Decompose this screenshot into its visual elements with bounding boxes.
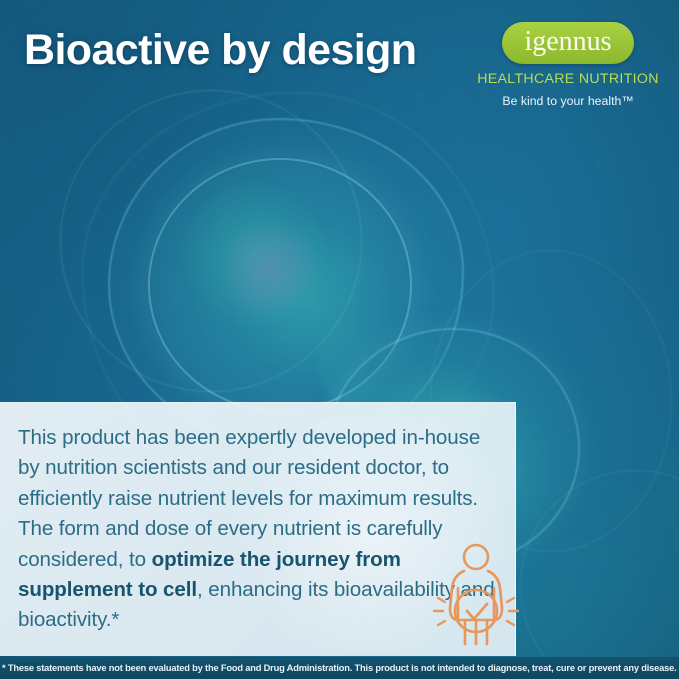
person-absorption-icon [424, 540, 528, 652]
logo-pill-shape: igennus [502, 22, 634, 64]
logo-subtitle: HEALTHCARE NUTRITION [470, 71, 666, 87]
brand-logo: igennus HEALTHCARE NUTRITION Be kind to … [470, 22, 666, 108]
logo-wordmark: igennus [524, 28, 611, 56]
disclaimer-bar: * These statements have not been evaluat… [0, 657, 679, 679]
cell-wisp-1 [60, 90, 362, 392]
page-title: Bioactive by design [24, 26, 416, 75]
logo-tagline: Be kind to your health™ [470, 94, 666, 108]
promotional-infographic: Bioactive by design igennus HEALTHCARE N… [0, 0, 679, 679]
disclaimer-text: * These statements have not been evaluat… [0, 663, 676, 673]
